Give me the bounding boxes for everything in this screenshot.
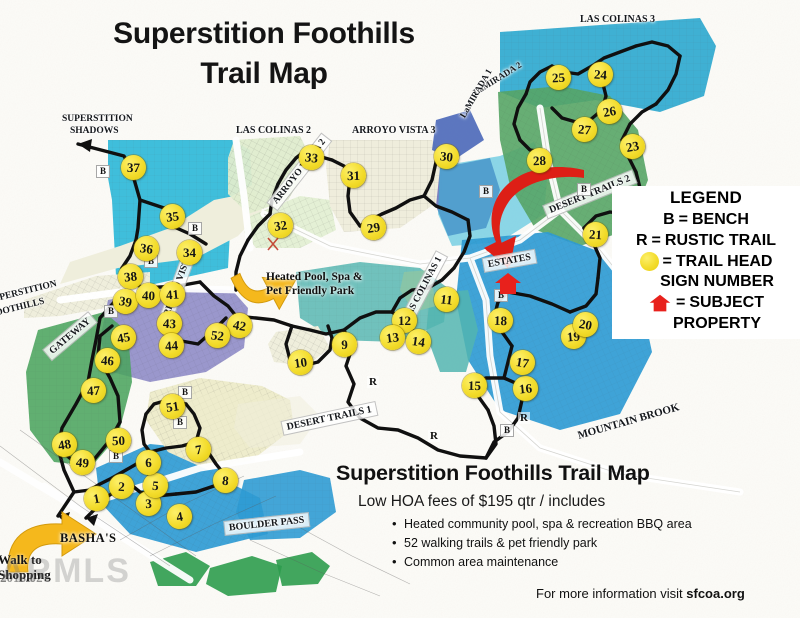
trail-head-number: 41: [165, 287, 179, 301]
legend-rustic-label: RUSTIC TRAIL: [665, 231, 776, 252]
trail-head-number: 2: [118, 480, 125, 493]
trail-head-number: 10: [293, 355, 308, 370]
trail-head-number: 42: [232, 318, 247, 333]
trail-head-number: 45: [116, 330, 131, 345]
bench-marker: B: [577, 183, 591, 196]
map-area-label: SUPERSTITION: [62, 114, 133, 124]
watermark-date: 2018/02: [0, 570, 43, 586]
legend-row-trailhead: = TRAIL HEAD: [612, 252, 800, 273]
map-area-label: LAS COLINAS 2: [236, 125, 311, 136]
trail-head-number: 1: [92, 491, 101, 505]
trail-head-number: 17: [515, 355, 530, 370]
subject-property-house-icon: [494, 272, 522, 301]
trail-head-number: 5: [152, 479, 160, 493]
trail-head-number: 31: [347, 169, 360, 182]
trail-head-marker[interactable]: 34: [177, 240, 202, 265]
trail-head-number: 29: [366, 220, 381, 235]
trail-head-number: 27: [577, 122, 591, 136]
bench-marker: B: [188, 222, 202, 235]
trail-head-number: 52: [210, 328, 224, 342]
bench-marker: B: [96, 165, 110, 178]
map-area-label: SHADOWS: [70, 126, 119, 136]
trail-head-number: 24: [594, 68, 608, 82]
trail-head-number: 18: [494, 314, 507, 327]
trail-head-number: 12: [398, 314, 411, 327]
trail-head-number: 20: [578, 317, 593, 332]
trail-head-number: 34: [183, 246, 196, 259]
trail-head-number: 6: [145, 456, 152, 469]
trail-head-number: 15: [468, 379, 481, 392]
page-title: Superstition Foothills Trail Map: [44, 14, 484, 93]
trail-head-number: 35: [165, 209, 179, 223]
trail-head-number: 26: [602, 104, 617, 119]
trail-head-number: 21: [589, 228, 603, 242]
legend-rustic-key: R: [636, 231, 648, 252]
trail-head-number: 13: [385, 330, 399, 344]
heated-pool-callout: Heated Pool, Spa & Pet Friendly Park: [266, 270, 362, 299]
trail-head-number: 28: [533, 154, 546, 167]
trail-head-number: 8: [222, 474, 230, 488]
legend-bench-label: BENCH: [692, 210, 749, 231]
page-title-line1: Superstition Foothills: [113, 17, 415, 50]
info-bullet-list: Heated community pool, spa & recreation …: [336, 515, 798, 572]
info-panel: Superstition Foothills Trail Map Low HOA…: [336, 462, 798, 572]
map-area-label: LAS COLINAS 3: [580, 14, 655, 25]
rustic-trail-marker: R: [518, 412, 530, 424]
trail-head-number: 37: [127, 161, 140, 174]
trail-head-number: 14: [411, 334, 426, 349]
legend: LEGEND B = BENCH R = RUSTIC TRAIL = TRAI…: [612, 186, 800, 339]
trail-head-number: 32: [273, 218, 288, 233]
trail-head-number: 46: [101, 354, 115, 368]
trail-head-number: 51: [165, 399, 180, 414]
info-subtitle: Low HOA fees of $195 qtr / includes: [358, 493, 798, 511]
heated-pool-line1: Heated Pool, Spa &: [266, 270, 362, 284]
legend-subject-label2: PROPERTY: [673, 314, 761, 335]
trail-head-number: 39: [118, 294, 133, 309]
bashas-label: BASHA'S: [60, 531, 116, 546]
info-footer: For more information visit sfcoa.org: [536, 586, 798, 601]
legend-row-rustic: R = RUSTIC TRAIL: [612, 231, 800, 252]
legend-row-bench: B = BENCH: [612, 210, 800, 231]
legend-trailhead-label2: SIGN NUMBER: [660, 272, 774, 293]
subject-house-icon: [648, 294, 672, 313]
trail-head-number: 47: [87, 384, 101, 398]
heated-pool-line2: Pet Friendly Park: [266, 284, 362, 298]
legend-row-trailhead-2: SIGN NUMBER: [612, 272, 800, 293]
trail-head-number: 23: [625, 139, 640, 154]
legend-trailhead-label: TRAIL HEAD: [676, 252, 773, 273]
trail-head-dot-icon: [640, 252, 659, 271]
trail-head-number: 33: [304, 150, 318, 164]
bench-marker: B: [479, 185, 493, 198]
trail-head-number: 25: [552, 71, 566, 85]
rustic-trail-marker: R: [428, 430, 440, 442]
trail-map-flyer: Superstition Foothills Trail Map SUPERST…: [0, 0, 800, 618]
info-bullet: Common area maintenance: [392, 553, 798, 572]
legend-row-subject: = SUBJECT: [612, 293, 800, 314]
trail-head-number: 11: [440, 292, 454, 306]
legend-rustic-equals: =: [652, 231, 661, 252]
trail-head-number: 38: [123, 269, 137, 283]
walk-line1: Walk to: [0, 553, 51, 568]
legend-row-subject-2: PROPERTY: [612, 314, 800, 335]
page-title-line2: Trail Map: [44, 54, 484, 94]
info-footer-website[interactable]: sfcoa.org: [686, 586, 745, 601]
trail-head-number: 36: [139, 241, 154, 256]
info-bullet: 52 walking trails & pet friendly park: [392, 534, 798, 553]
legend-bench-key: B: [663, 210, 675, 231]
trail-head-number: 3: [145, 497, 152, 510]
trail-head-number: 40: [142, 289, 155, 302]
legend-heading: LEGEND: [612, 188, 800, 208]
trail-head-number: 43: [163, 317, 177, 331]
trail-head-number: 4: [175, 510, 184, 524]
info-title: Superstition Foothills Trail Map: [336, 462, 798, 486]
info-footer-prefix: For more information visit: [536, 586, 686, 601]
trail-head-number: 48: [57, 437, 72, 452]
info-bullet: Heated community pool, spa & recreation …: [392, 515, 798, 534]
legend-subject-equals: =: [676, 293, 685, 314]
legend-trailhead-equals: =: [663, 252, 672, 273]
map-area-label: ARROYO VISTA 3: [352, 125, 436, 136]
trail-head-number: 44: [165, 339, 179, 353]
trail-head-number: 16: [518, 381, 532, 395]
trail-head-number: 30: [439, 149, 453, 163]
legend-bench-equals: =: [679, 210, 688, 231]
trail-head-number: 50: [112, 434, 125, 447]
trail-head-number: 49: [75, 455, 89, 469]
legend-subject-label: SUBJECT: [689, 293, 764, 314]
trail-head-number: 9: [341, 338, 348, 351]
bench-marker: B: [500, 424, 514, 437]
rustic-trail-marker: R: [367, 376, 379, 388]
trail-head-number: 7: [194, 443, 202, 457]
